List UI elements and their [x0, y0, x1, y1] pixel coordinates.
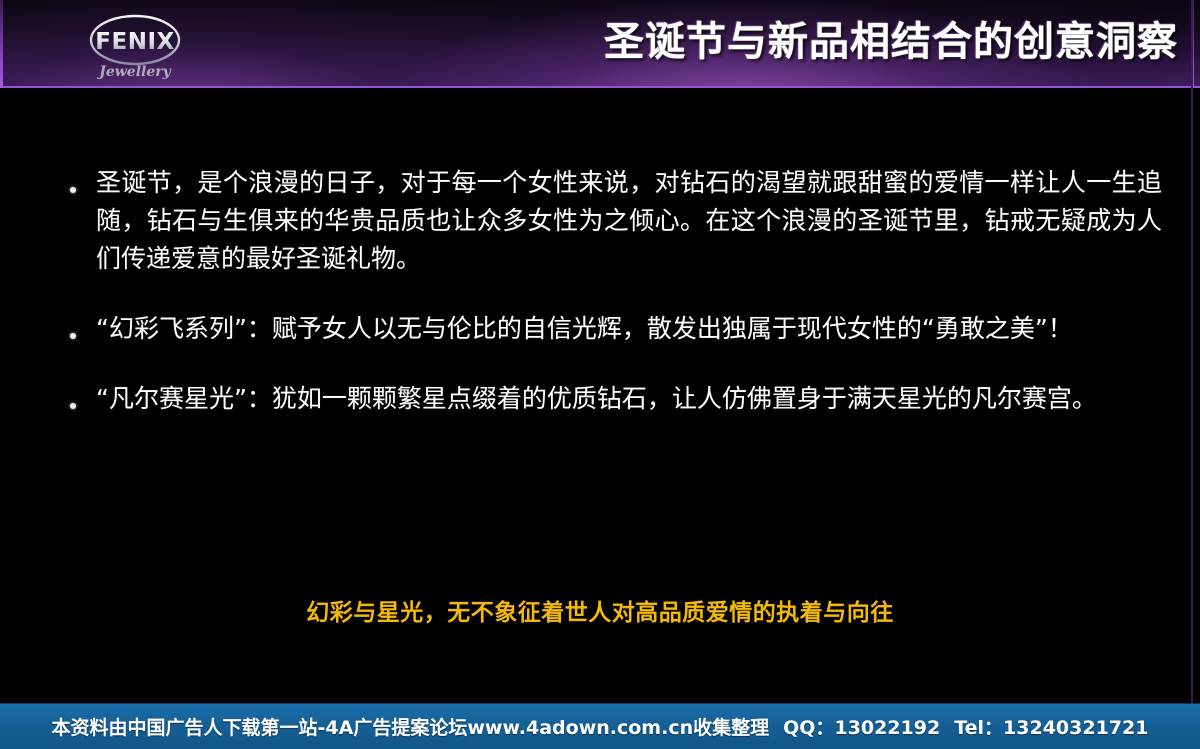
list-item: “凡尔赛星光”：犹如一颗颗繁星点缀着的优质钻石，让人仿佛置身于满天星光的凡尔赛宫…: [62, 380, 1162, 418]
slide-header: FENIX Jewellery 圣诞节与新品相结合的创意洞察: [0, 0, 1200, 88]
fenix-logo: FENIX Jewellery: [74, 8, 196, 84]
footer-qq: QQ：13022192: [783, 717, 940, 739]
footer-source-text: 本资料由中国广告人下载第一站-4A广告提案论坛www.4adown.com.cn…: [52, 717, 770, 739]
list-item: 圣诞节，是个浪漫的日子，对于每一个女性来说，对钻石的渴望就跟甜蜜的爱情一样让人一…: [62, 164, 1162, 278]
footer-tel: Tel：13240321721: [954, 717, 1148, 739]
bullet-dot-icon: [62, 164, 96, 197]
slide-body: 圣诞节，是个浪漫的日子，对于每一个女性来说，对钻石的渴望就跟甜蜜的爱情一样让人一…: [0, 88, 1200, 703]
highlight-tagline: 幻彩与星光，无不象征着世人对高品质爱情的执着与向往: [0, 593, 1200, 627]
right-edge-accent-line: [1191, 0, 1193, 703]
header-left-accent-line: [0, 0, 3, 88]
slide-root: FENIX Jewellery 圣诞节与新品相结合的创意洞察 圣诞节，是个浪漫的…: [0, 0, 1200, 749]
bullet-list: 圣诞节，是个浪漫的日子，对于每一个女性来说，对钻石的渴望就跟甜蜜的爱情一样让人一…: [62, 164, 1162, 450]
svg-text:Jewellery: Jewellery: [96, 64, 171, 80]
list-item: “幻彩飞系列”：赋予女人以无与伦比的自信光辉，散发出独属于现代女性的“勇敢之美”…: [62, 310, 1162, 348]
footer-bar: 本资料由中国广告人下载第一站-4A广告提案论坛www.4adown.com.cn…: [0, 703, 1200, 749]
bullet-paragraph-2: “幻彩飞系列”：赋予女人以无与伦比的自信光辉，散发出独属于现代女性的“勇敢之美”…: [96, 310, 1162, 348]
bullet-dot-icon: [62, 310, 96, 343]
bullet-paragraph-1: 圣诞节，是个浪漫的日子，对于每一个女性来说，对钻石的渴望就跟甜蜜的爱情一样让人一…: [96, 164, 1162, 278]
footer-content: 本资料由中国广告人下载第一站-4A广告提案论坛www.4adown.com.cn…: [52, 713, 1149, 740]
bullet-paragraph-3: “凡尔赛星光”：犹如一颗颗繁星点缀着的优质钻石，让人仿佛置身于满天星光的凡尔赛宫…: [96, 380, 1162, 418]
bullet-dot-icon: [62, 380, 96, 413]
page-title: 圣诞节与新品相结合的创意洞察: [604, 12, 1178, 72]
svg-text:FENIX: FENIX: [95, 29, 174, 55]
